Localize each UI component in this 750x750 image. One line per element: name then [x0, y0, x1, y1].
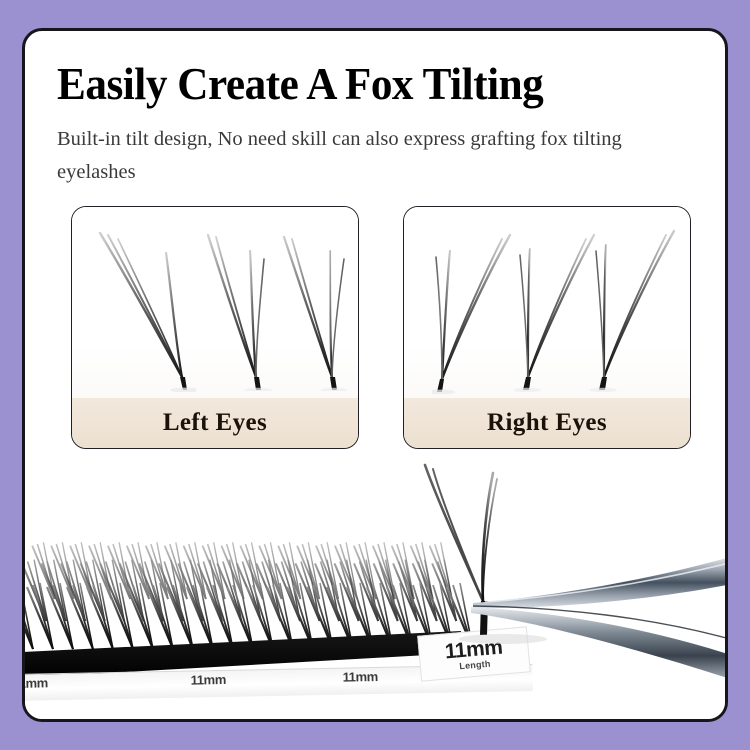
comparison-panels: Left Eyes	[71, 206, 691, 451]
panel-label-band-right: Right Eyes	[404, 398, 690, 448]
ruler-mark-3: 11mm	[342, 669, 378, 685]
purple-frame: Easily Create A Fox Tilting Built-in til…	[0, 0, 750, 750]
panel-right-eyes: Right Eyes	[403, 206, 691, 449]
tweezers-icon	[407, 461, 725, 681]
page-title: Easily Create A Fox Tilting	[57, 59, 671, 109]
heading-block: Easily Create A Fox Tilting Built-in til…	[57, 59, 697, 189]
panel-label-left-eyes: Left Eyes	[163, 409, 267, 437]
product-card: Easily Create A Fox Tilting Built-in til…	[22, 28, 728, 722]
lash-fan-left-3	[278, 231, 358, 391]
ruler-mark-2: 11mm	[190, 672, 226, 688]
page-subtitle: Built-in tilt design, No need skill can …	[57, 123, 647, 189]
panel-stage-right	[404, 207, 690, 400]
panel-left-eyes: Left Eyes	[71, 206, 359, 449]
panel-label-band-left: Left Eyes	[72, 398, 358, 448]
panel-stage-left	[72, 207, 358, 400]
product-photo-area: 1mm 11mm 11mm 11mm Length	[25, 461, 725, 719]
lash-fan-right-3	[590, 227, 690, 392]
ruler-mark-1: 1mm	[25, 675, 48, 691]
panel-label-right-eyes: Right Eyes	[487, 409, 607, 437]
lash-fan-left-1	[86, 227, 196, 392]
